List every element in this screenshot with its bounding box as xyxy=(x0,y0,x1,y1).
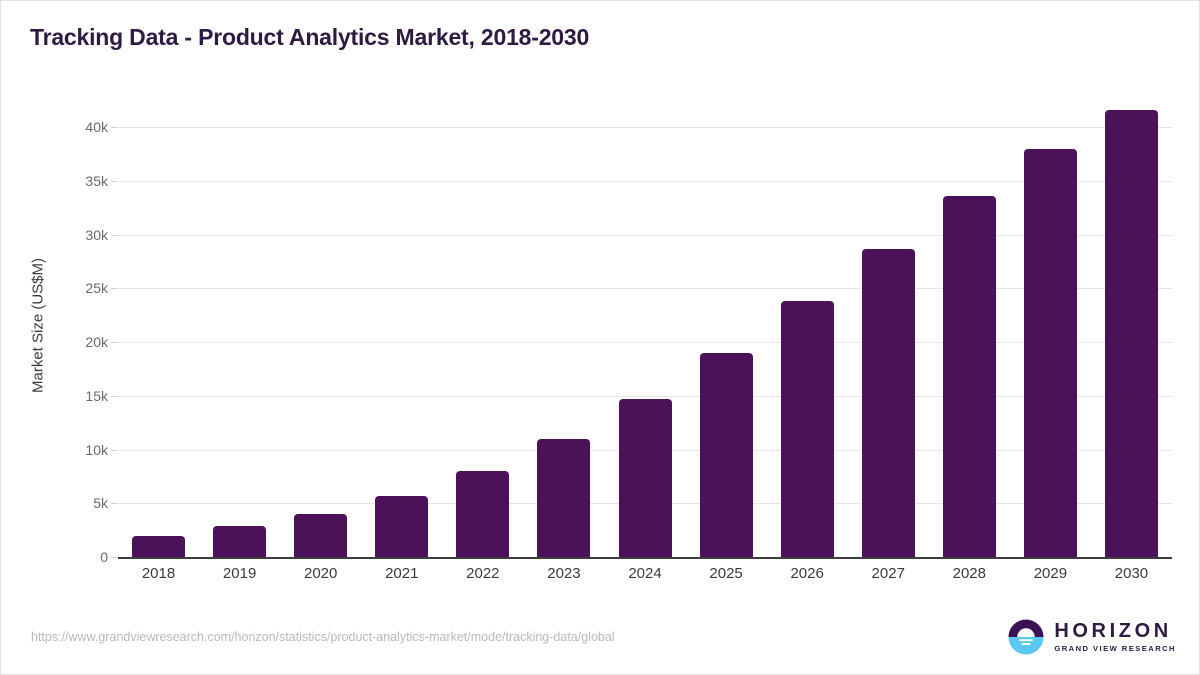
bar-2027[interactable] xyxy=(862,249,915,557)
bar-slot xyxy=(1010,95,1091,557)
y-axis-tick-label: 20k xyxy=(85,334,108,350)
y-axis-tickmark xyxy=(111,288,117,289)
y-axis-tickmark xyxy=(111,503,117,504)
x-axis-tick-label: 2027 xyxy=(848,565,929,582)
x-axis-tick-label: 2021 xyxy=(361,565,442,582)
brand-name: HORIZON xyxy=(1054,621,1176,641)
bar-2028[interactable] xyxy=(943,196,996,557)
bar-2018[interactable] xyxy=(132,536,185,557)
x-axis-tick-labels: 2018201920202021202220232024202520262027… xyxy=(118,565,1172,582)
chart-page: Tracking Data - Product Analytics Market… xyxy=(0,0,1200,675)
bar-2023[interactable] xyxy=(537,439,590,557)
x-axis-tick-label: 2019 xyxy=(199,565,280,582)
bar-slot xyxy=(604,95,685,557)
bar-2026[interactable] xyxy=(781,301,834,557)
bar-slot xyxy=(767,95,848,557)
page-title: Tracking Data - Product Analytics Market… xyxy=(30,24,589,51)
y-axis-tickmark xyxy=(111,181,117,182)
x-axis-tick-label: 2020 xyxy=(280,565,361,582)
x-axis-line xyxy=(118,557,1172,559)
x-axis-tick-label: 2030 xyxy=(1091,565,1172,582)
x-axis-tick-label: 2025 xyxy=(686,565,767,582)
y-axis-tickmark xyxy=(111,235,117,236)
brand-tagline: GRAND VIEW RESEARCH xyxy=(1054,645,1176,653)
y-axis-tick-label: 35k xyxy=(85,173,108,189)
x-axis-tick-label: 2029 xyxy=(1010,565,1091,582)
bar-slot xyxy=(1091,95,1172,557)
bar-2022[interactable] xyxy=(456,471,509,557)
y-axis-tickmark xyxy=(111,342,117,343)
bar-slot xyxy=(929,95,1010,557)
y-axis-tick-label: 30k xyxy=(85,227,108,243)
x-axis-tick-label: 2022 xyxy=(442,565,523,582)
x-axis-tick-label: 2028 xyxy=(929,565,1010,582)
x-axis-tick-label: 2024 xyxy=(604,565,685,582)
bar-slot xyxy=(848,95,929,557)
bar-slot xyxy=(118,95,199,557)
y-axis-tick-label: 15k xyxy=(85,388,108,404)
bar-series xyxy=(118,95,1172,557)
x-axis-tick-label: 2023 xyxy=(523,565,604,582)
bar-slot xyxy=(199,95,280,557)
y-axis-tick-label: 10k xyxy=(85,442,108,458)
bar-2019[interactable] xyxy=(213,526,266,557)
y-axis-tick-labels: 05k10k15k20k25k30k35k40k xyxy=(46,95,108,557)
y-axis-tickmark xyxy=(111,450,117,451)
bar-slot xyxy=(523,95,604,557)
brand-text: HORIZON GRAND VIEW RESEARCH xyxy=(1054,621,1176,653)
y-axis-tick-label: 40k xyxy=(85,119,108,135)
bar-slot xyxy=(280,95,361,557)
bar-2025[interactable] xyxy=(700,353,753,557)
bar-2020[interactable] xyxy=(294,514,347,557)
x-axis-tick-label: 2026 xyxy=(767,565,848,582)
plot-area: Market Size (US$M) 05k10k15k20k25k30k35k… xyxy=(0,95,1200,575)
bar-slot xyxy=(686,95,767,557)
bar-2029[interactable] xyxy=(1024,149,1077,557)
source-url[interactable]: https://www.grandviewresearch.com/horizo… xyxy=(31,630,615,644)
bar-slot xyxy=(442,95,523,557)
y-axis-tickmark xyxy=(111,127,117,128)
bar-2030[interactable] xyxy=(1105,110,1158,557)
brand-logo: HORIZON GRAND VIEW RESEARCH xyxy=(1007,618,1176,656)
y-axis-title: Market Size (US$M) xyxy=(30,126,47,526)
y-axis-tick-label: 0 xyxy=(100,549,108,565)
bar-slot xyxy=(361,95,442,557)
x-axis-tick-label: 2018 xyxy=(118,565,199,582)
y-axis-tickmark xyxy=(111,396,117,397)
y-axis-tick-label: 5k xyxy=(93,495,108,511)
horizon-circle-icon xyxy=(1007,618,1045,656)
bar-2024[interactable] xyxy=(619,399,672,557)
y-axis-tickmark xyxy=(111,557,117,558)
bar-2021[interactable] xyxy=(375,496,428,557)
y-axis-tick-label: 25k xyxy=(85,280,108,296)
